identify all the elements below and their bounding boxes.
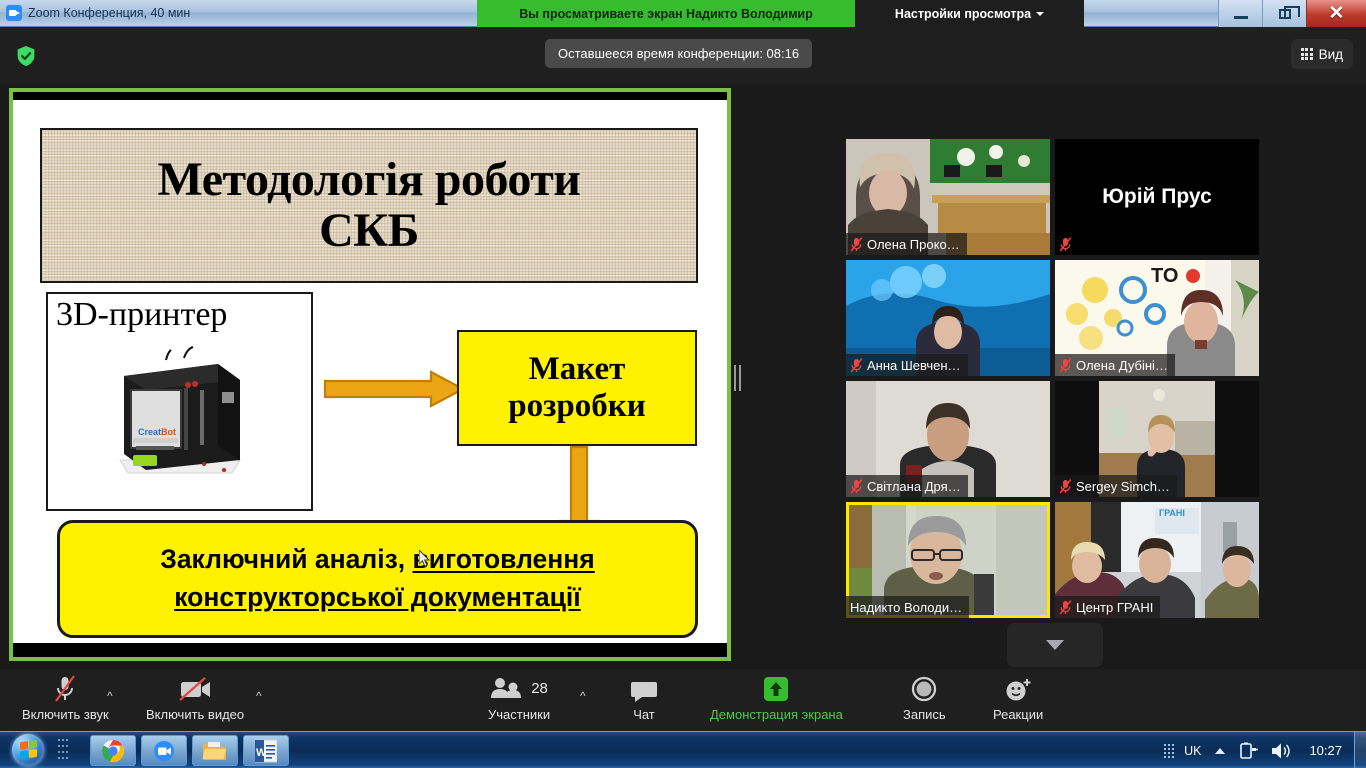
- minimize-button[interactable]: [1218, 0, 1262, 27]
- 3d-printer-image: Creat Bot: [100, 342, 260, 502]
- participant-tile[interactable]: Юрій Прус: [1055, 139, 1259, 255]
- video-off-icon: [178, 673, 212, 703]
- microphone-muted-icon: [850, 237, 863, 252]
- participant-tile[interactable]: Світлана Дря…: [846, 381, 1050, 497]
- record-button[interactable]: Запись: [903, 673, 946, 722]
- slide-title-box: Методологія роботиСКБ: [40, 128, 698, 283]
- taskbar-button-word[interactable]: W: [243, 735, 289, 766]
- participant-tile-active-speaker[interactable]: Надикто Володи…: [846, 502, 1050, 618]
- participant-name: Надикто Володи…: [850, 600, 962, 615]
- scroll-down-button[interactable]: [1007, 623, 1103, 667]
- svg-text:W: W: [256, 747, 267, 759]
- final-analysis-box: Заключний аналіз, виготовлення конструкт…: [57, 520, 698, 638]
- panel-drag-handle[interactable]: [734, 365, 742, 391]
- printer-label: 3D-принтер: [56, 296, 227, 334]
- view-settings-label: Настройки просмотра: [895, 7, 1031, 21]
- window-title: Zoom Конференция, 40 мин: [28, 6, 190, 20]
- video-options-caret[interactable]: ^: [256, 689, 262, 703]
- restore-icon: [1279, 9, 1291, 19]
- start-button[interactable]: [2, 731, 54, 768]
- unmute-label: Включить звук: [22, 707, 109, 722]
- slide-title: Методологія роботиСКБ: [158, 155, 581, 256]
- participant-name-bar: Олена Проко…: [846, 233, 967, 255]
- windows-start-orb: [12, 734, 44, 766]
- participant-name: Sergey Simch…: [1076, 479, 1170, 494]
- participant-tile[interactable]: ГРАНІ Центр ГРАНІ: [1055, 502, 1259, 618]
- participants-button[interactable]: 28 Участники: [488, 673, 550, 722]
- grid-view-icon: [1301, 48, 1313, 60]
- reactions-button[interactable]: Реакции: [993, 673, 1043, 722]
- meeting-timer: Оставшееся время конференции: 08:16: [545, 39, 812, 68]
- participant-name-bar: Центр ГРАНІ: [1055, 596, 1160, 618]
- participant-tile[interactable]: Sergey Simch…: [1055, 381, 1259, 497]
- presentation-slide: Методологія роботиСКБ 3D-принтер: [13, 100, 727, 643]
- participants-options-caret[interactable]: ^: [580, 689, 586, 703]
- window-controls: ✕: [1218, 0, 1366, 27]
- svg-text:ГРАНІ: ГРАНІ: [1159, 508, 1185, 518]
- chrome-icon: [101, 739, 125, 763]
- participant-name-bar: Світлана Дря…: [846, 475, 968, 497]
- language-indicator[interactable]: UK: [1184, 744, 1201, 758]
- taskbar-button-zoom[interactable]: [141, 735, 187, 766]
- participant-tile[interactable]: Олена Проко…: [846, 139, 1050, 255]
- shared-screen-area[interactable]: Методологія роботиСКБ 3D-принтер: [9, 88, 731, 661]
- meeting-timer-label: Оставшееся время конференции: 08:16: [558, 46, 799, 61]
- final-analysis-line-1: Заключний аналіз, виготовлення: [160, 541, 595, 579]
- participant-name-bar: [1055, 233, 1079, 255]
- screen-share-banner-label: Вы просматриваете экран Надикто Володими…: [519, 7, 813, 21]
- svg-text:TO: TO: [1151, 265, 1178, 287]
- participant-name: Центр ГРАНІ: [1076, 600, 1153, 615]
- microphone-muted-icon: [1059, 479, 1072, 494]
- show-desktop-button[interactable]: [1354, 732, 1366, 768]
- record-circle-icon: [910, 673, 938, 703]
- system-tray: UK 10:27: [1164, 732, 1366, 768]
- taskbar-button-chrome[interactable]: [90, 735, 136, 766]
- chat-label: Чат: [633, 707, 655, 722]
- microphone-muted-icon: [1059, 600, 1072, 615]
- printer-image-box: 3D-принтер: [46, 292, 313, 511]
- mouse-pointer-icon: [419, 550, 431, 568]
- start-video-button[interactable]: Включить видео: [146, 673, 244, 722]
- explorer-icon: [202, 740, 228, 762]
- view-button[interactable]: Вид: [1291, 39, 1353, 69]
- security-shield-button[interactable]: [9, 40, 43, 72]
- svg-text:Bot: Bot: [161, 427, 176, 437]
- mockup-line-1: Макет: [529, 351, 626, 388]
- audio-options-caret[interactable]: ^: [107, 689, 113, 703]
- chat-bubble-icon: [631, 673, 657, 703]
- share-screen-button[interactable]: Демонстрация экрана: [710, 673, 843, 722]
- windows-taskbar: W UK 10:27: [0, 731, 1366, 768]
- chat-button[interactable]: Чат: [631, 673, 657, 722]
- chevron-down-icon: [1036, 12, 1044, 16]
- participants-icon-group: 28: [490, 673, 548, 703]
- participant-name: Світлана Дря…: [867, 479, 961, 494]
- microphone-muted-icon: [53, 673, 77, 703]
- windows-logo-icon: [20, 740, 37, 759]
- svg-text:Creat: Creat: [138, 427, 161, 437]
- close-icon: ✕: [1329, 4, 1345, 23]
- reactions-smiley-icon: [1003, 673, 1033, 703]
- volume-icon[interactable]: [1271, 742, 1293, 760]
- participant-name-bar: Олена Дубіні…: [1055, 354, 1175, 376]
- participant-name: Олена Проко…: [867, 237, 960, 252]
- share-screen-icon: [762, 673, 790, 703]
- participant-name-bar: Sergey Simch…: [1055, 475, 1177, 497]
- participant-display-name: Юрій Прус: [1102, 185, 1212, 209]
- zoom-icon: [6, 5, 22, 21]
- meeting-toolbar: Включить звук ^ Включить видео ^: [0, 669, 1366, 731]
- screen-share-banner: Вы просматриваете экран Надикто Володими…: [477, 0, 855, 27]
- restore-button[interactable]: [1262, 0, 1306, 27]
- word-icon: W: [255, 739, 277, 763]
- participant-no-video: Юрій Прус: [1055, 139, 1259, 255]
- share-screen-label: Демонстрация экрана: [710, 707, 843, 722]
- microphone-muted-icon: [850, 358, 863, 373]
- participants-count: 28: [531, 680, 548, 697]
- microphone-muted-icon: [1059, 358, 1072, 373]
- participant-name-bar: Анна Шевчен…: [846, 354, 968, 376]
- taskbar-button-explorer[interactable]: [192, 735, 238, 766]
- participant-tile[interactable]: Анна Шевчен…: [846, 260, 1050, 376]
- battery-charging-icon[interactable]: [1239, 742, 1259, 760]
- mockup-line-2: розробки: [508, 388, 646, 425]
- show-hidden-icons-grip: [1164, 744, 1174, 758]
- close-button[interactable]: ✕: [1306, 0, 1366, 27]
- participant-name: Олена Дубіні…: [1076, 358, 1168, 373]
- unmute-button[interactable]: Включить звук: [22, 673, 109, 722]
- chevron-down-icon: [1046, 640, 1064, 650]
- microphone-muted-icon: [1059, 237, 1072, 252]
- final-analysis-line-2: конструкторської документації: [174, 579, 580, 617]
- participants-label: Участники: [488, 707, 550, 722]
- arrow-right-icon: [323, 370, 465, 408]
- view-button-label: Вид: [1319, 47, 1343, 62]
- participant-tiles: Олена Проко… Юрій Прус: [846, 139, 1260, 631]
- show-hidden-icons[interactable]: [1215, 748, 1225, 754]
- record-label: Запись: [903, 707, 946, 722]
- participant-name-bar: Надикто Володи…: [846, 596, 969, 618]
- minimize-icon: [1234, 16, 1248, 19]
- participant-name: Анна Шевчен…: [867, 358, 961, 373]
- taskbar-divider: [58, 737, 61, 764]
- microphone-muted-icon: [850, 479, 863, 494]
- participant-tile[interactable]: TO Олена Дубіні…: [1055, 260, 1259, 376]
- zoom-icon: [152, 739, 176, 763]
- taskbar-clock[interactable]: 10:27: [1309, 743, 1342, 758]
- participants-icon: [490, 677, 522, 699]
- reactions-label: Реакции: [993, 707, 1043, 722]
- security-shield-icon: [16, 45, 36, 67]
- start-video-label: Включить видео: [146, 707, 244, 722]
- view-settings-dropdown[interactable]: Настройки просмотра: [855, 0, 1084, 27]
- mockup-box: Макет розробки: [457, 330, 697, 446]
- window-title-bar: Zoom Конференция, 40 мин Вы просматривае…: [0, 0, 1366, 27]
